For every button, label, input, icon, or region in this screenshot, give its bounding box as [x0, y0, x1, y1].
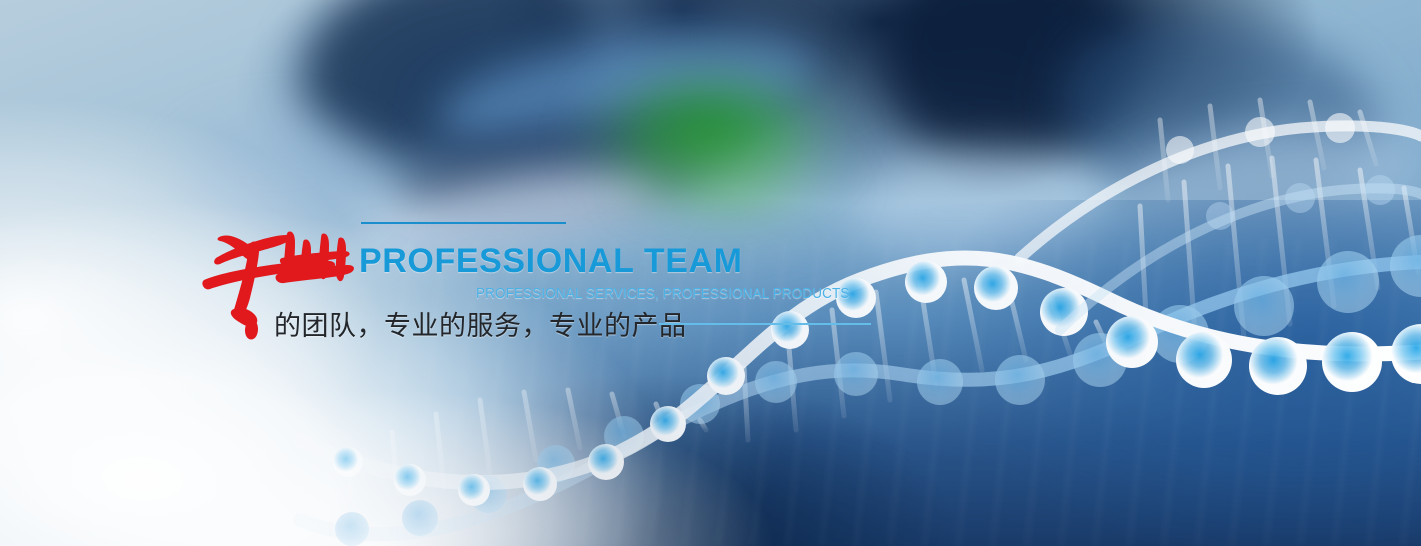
banner-title-cn: 的团队，专业的服务，专业的产品 — [274, 304, 687, 343]
banner-subtitle-en: PROFESSIONAL SERVICES, PROFESSIONAL PROD… — [476, 286, 850, 302]
rule-bottom — [659, 323, 871, 325]
banner-text-block: 专业 — [196, 208, 896, 343]
rule-top — [361, 222, 566, 224]
banner-title-en: PROFESSIONAL TEAM — [359, 242, 743, 281]
professional-team-banner: 专业 — [0, 0, 1421, 546]
